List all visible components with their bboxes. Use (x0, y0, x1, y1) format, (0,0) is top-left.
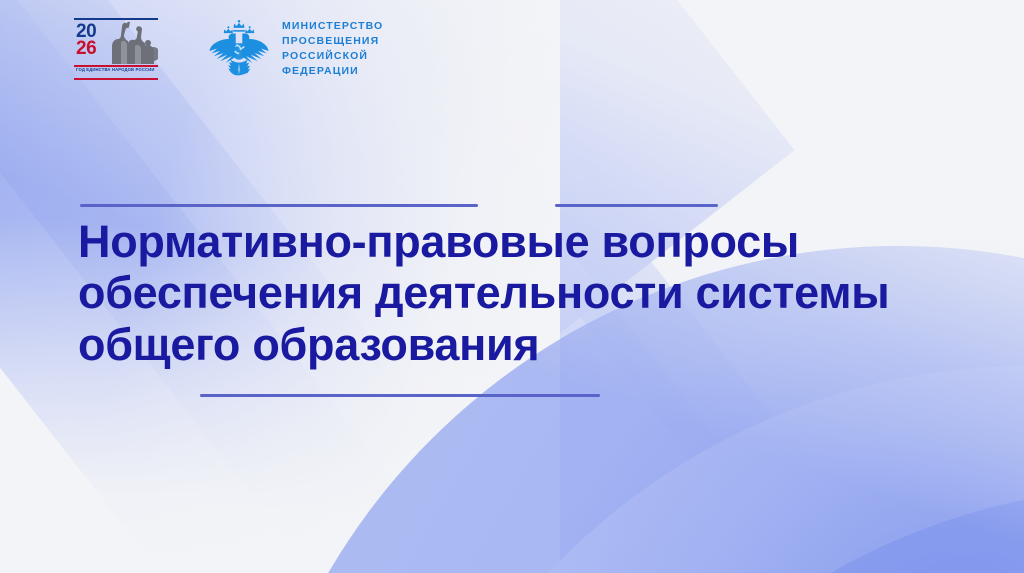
page-title: Нормативно-правовые вопросы обеспечения … (0, 216, 968, 370)
presentation-slide: 20 26 ГОД ЕДИНСТВА НАРОДОВ РОССИИ (0, 0, 1024, 573)
ministry-logo: МИНИСТЕРСТВО ПРОСВЕЩЕНИЯ РОССИЙСКОЙ ФЕДЕ… (208, 18, 383, 80)
year-numerals: 20 26 (76, 23, 96, 58)
title-rules-top (0, 196, 1024, 216)
year-second-line: 26 (76, 40, 96, 57)
decorative-rule (80, 204, 478, 207)
monument-illustration (102, 20, 158, 66)
decorative-rule (555, 204, 718, 207)
year-logo-caption: ГОД ЕДИНСТВА НАРОДОВ РОССИИ (76, 67, 156, 72)
year-of-unity-logo: 20 26 ГОД ЕДИНСТВА НАРОДОВ РОССИИ (74, 18, 158, 80)
ministry-name-text: МИНИСТЕРСТВО ПРОСВЕЩЕНИЯ РОССИЙСКОЙ ФЕДЕ… (282, 19, 383, 79)
double-headed-eagle-icon (208, 18, 270, 80)
decorative-rule (200, 394, 600, 397)
logo-row: 20 26 ГОД ЕДИНСТВА НАРОДОВ РОССИИ (74, 18, 383, 80)
logo-rule (74, 78, 158, 80)
title-block: Нормативно-правовые вопросы обеспечения … (0, 196, 1024, 408)
title-rules-bottom (0, 394, 1024, 408)
